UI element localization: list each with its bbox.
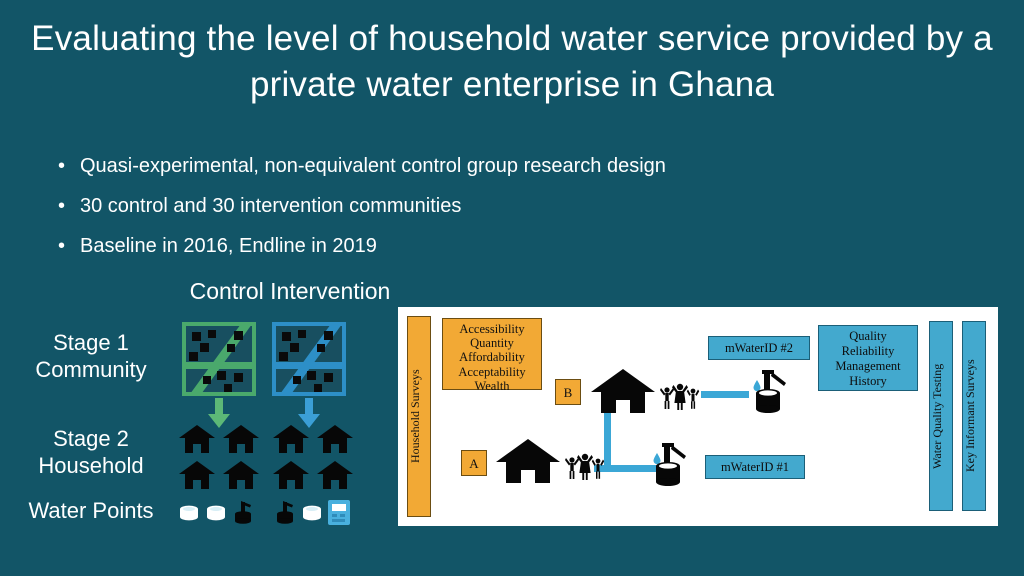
label-water-quality-testing-text: Water Quality Testing — [930, 322, 945, 510]
row-label-stage1-line1: Stage 1 — [2, 329, 180, 356]
study-design-diagram-panel: Household Surveys Accessibility Quantity… — [396, 305, 1000, 528]
criteria-box: Accessibility Quantity Affordability Acc… — [442, 318, 542, 390]
connector-top-horizontal — [701, 391, 749, 398]
water-kiosk-icon — [326, 498, 350, 526]
quality-line: Quality — [819, 329, 917, 344]
community-map-intervention — [272, 322, 346, 396]
slide-canvas: Evaluating the level of household water … — [0, 0, 1024, 576]
house-icon — [222, 424, 260, 454]
criteria-line: Affordability — [443, 350, 541, 364]
house-icon-b — [590, 367, 656, 415]
list-item-label: Quasi-experimental, non-equivalent contr… — [80, 155, 666, 177]
water-points-intervention — [273, 498, 355, 528]
handpump-icon-2 — [746, 367, 790, 417]
legend-column-heading: Control Intervention — [160, 277, 420, 305]
criteria-line: Quantity — [443, 336, 541, 350]
bullet-marker-icon: • — [58, 186, 65, 226]
house-icon — [178, 424, 216, 454]
well-icon — [204, 498, 228, 526]
row-label-stage1-line2: Community — [2, 356, 180, 383]
bullet-list: • Quasi-experimental, non-equivalent con… — [56, 146, 856, 266]
criteria-line: Accessibility — [443, 322, 541, 336]
row-label-water-points: Water Points — [2, 497, 180, 524]
household-a-badge: A — [461, 450, 487, 476]
road-horizontal-icon — [186, 362, 252, 369]
quality-line: History — [819, 374, 917, 389]
label-household-surveys: Household Surveys — [407, 316, 431, 517]
house-icon — [316, 460, 354, 490]
bullet-marker-icon: • — [58, 146, 65, 186]
water-points-control — [177, 498, 257, 528]
quality-line: Management — [819, 359, 917, 374]
house-icon — [272, 460, 310, 490]
label-water-quality-testing: Water Quality Testing — [929, 321, 953, 511]
house-icon — [222, 460, 260, 490]
house-icon-a — [495, 437, 561, 485]
community-map-control — [182, 322, 256, 396]
list-item: • Quasi-experimental, non-equivalent con… — [56, 146, 856, 186]
connector-vertical — [604, 413, 611, 470]
road-horizontal-icon — [276, 362, 342, 369]
handpump-icon-1 — [646, 440, 690, 490]
page-title: Evaluating the level of household water … — [20, 16, 1004, 108]
household-group-control — [178, 424, 260, 492]
bullet-marker-icon: • — [58, 226, 65, 266]
family-icon-b — [660, 380, 700, 412]
house-icon — [178, 460, 216, 490]
household-group-intervention — [272, 424, 354, 492]
house-icon — [272, 424, 310, 454]
criteria-line: Acceptability — [443, 365, 541, 379]
well-icon — [177, 498, 201, 526]
quality-attributes-box: Quality Reliability Management History — [818, 325, 918, 391]
well-icon — [300, 498, 324, 526]
row-label-stage1: Stage 1 Community — [2, 329, 180, 383]
mwater-id-1-badge: mWaterID #1 — [705, 455, 805, 479]
row-label-stage2: Stage 2 Household — [2, 425, 180, 479]
list-item: • 30 control and 30 intervention communi… — [56, 186, 856, 226]
handpump-icon — [231, 498, 255, 526]
label-household-surveys-text: Household Surveys — [408, 317, 423, 516]
criteria-line: Wealth — [443, 379, 541, 393]
quality-line: Reliability — [819, 344, 917, 359]
row-label-stage2-line1: Stage 2 — [2, 425, 180, 452]
label-key-informant-surveys: Key Informant Surveys — [962, 321, 986, 511]
family-icon-a — [565, 450, 605, 482]
mwater-id-2-badge: mWaterID #2 — [708, 336, 810, 360]
household-b-badge: B — [555, 379, 581, 405]
label-key-informant-surveys-text: Key Informant Surveys — [963, 322, 978, 510]
house-icon — [316, 424, 354, 454]
list-item-label: Baseline in 2016, Endline in 2019 — [80, 235, 377, 257]
list-item: • Baseline in 2016, Endline in 2019 — [56, 226, 856, 266]
list-item-label: 30 control and 30 intervention communiti… — [80, 195, 461, 217]
handpump-icon — [273, 498, 297, 526]
row-label-stage2-line2: Household — [2, 452, 180, 479]
